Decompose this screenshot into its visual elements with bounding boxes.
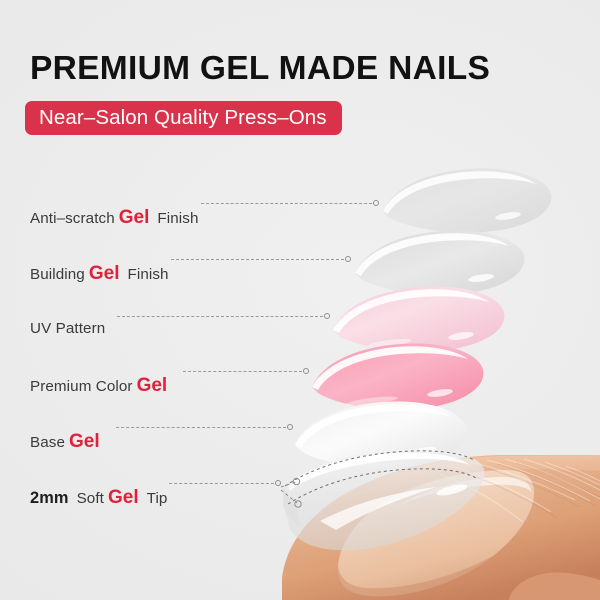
layer-label-text: Gel: [65, 431, 104, 453]
layer-label-text: Gel: [133, 375, 172, 397]
layer-label-list: Anti–scratchGelFinishBuildingGelFinishUV…: [0, 0, 600, 600]
leader-line-building-gel-finish: [171, 259, 344, 261]
layer-label-text: Building: [30, 266, 85, 283]
infographic-page: PREMIUM GEL MADE NAILS Near–Salon Qualit…: [0, 0, 600, 600]
leader-dot-uv-pattern: [324, 313, 330, 319]
leader-line-premium-color-gel: [183, 371, 302, 373]
layer-label-text: Tip: [143, 490, 168, 507]
layer-label-text: Premium Color: [30, 378, 133, 395]
layer-label-text: Soft: [73, 490, 104, 507]
leader-dot-building-gel-finish: [345, 256, 351, 262]
layer-label-text: Gel: [104, 487, 143, 509]
layer-label-text: UV Pattern: [30, 320, 105, 337]
layer-label-text: Anti–scratch: [30, 210, 115, 227]
layer-label-text: 2mm: [30, 489, 73, 508]
leader-dot-soft-gel-tip: [275, 480, 281, 486]
layer-label-text: Finish: [153, 210, 198, 227]
leader-line-base-gel: [116, 427, 286, 429]
layer-label-text: Gel: [85, 263, 124, 285]
leader-dot-base-gel: [287, 424, 293, 430]
layer-label-text: Base: [30, 434, 65, 451]
leader-line-soft-gel-tip: [169, 483, 274, 485]
layer-label-text: Finish: [123, 266, 168, 283]
leader-dot-premium-color-gel: [303, 368, 309, 374]
layer-label-text: Gel: [115, 207, 154, 229]
leader-dot-anti-scratch-gel-finish: [373, 200, 379, 206]
leader-line-anti-scratch-gel-finish: [201, 203, 372, 205]
leader-line-uv-pattern: [117, 316, 323, 318]
